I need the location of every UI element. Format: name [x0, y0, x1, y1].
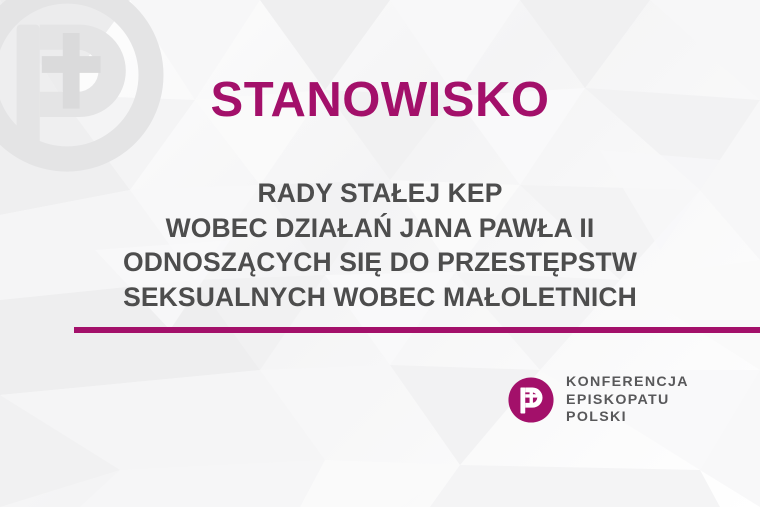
kep-logo-mark-icon: [507, 376, 555, 424]
kep-word-line-2: EPISKOPATU: [566, 392, 689, 410]
kep-logo-lockup: KONFERENCJA EPISKOPATU POLSKI: [507, 374, 689, 427]
page-title: STANOWISKO: [0, 76, 760, 125]
kep-logo-wordmark: KONFERENCJA EPISKOPATU POLSKI: [566, 374, 689, 427]
kep-word-line-1: KONFERENCJA: [566, 374, 689, 392]
subtitle-line-2: WOBEC DZIAŁAŃ JANA PAWŁA II: [0, 211, 760, 246]
slide-canvas: STANOWISKO RADY STAŁEJ KEP WOBEC DZIAŁAŃ…: [0, 0, 760, 507]
subtitle-block: RADY STAŁEJ KEP WOBEC DZIAŁAŃ JANA PAWŁA…: [0, 176, 760, 314]
subtitle-line-3: ODNOSZĄCYCH SIĘ DO PRZESTĘPSTW: [0, 245, 760, 280]
kep-word-line-3: POLSKI: [566, 409, 689, 427]
subtitle-line-1: RADY STAŁEJ KEP: [0, 176, 760, 211]
subtitle-line-4: SEKSUALNYCH WOBEC MAŁOLETNICH: [0, 280, 760, 315]
divider-rule: [74, 327, 760, 333]
